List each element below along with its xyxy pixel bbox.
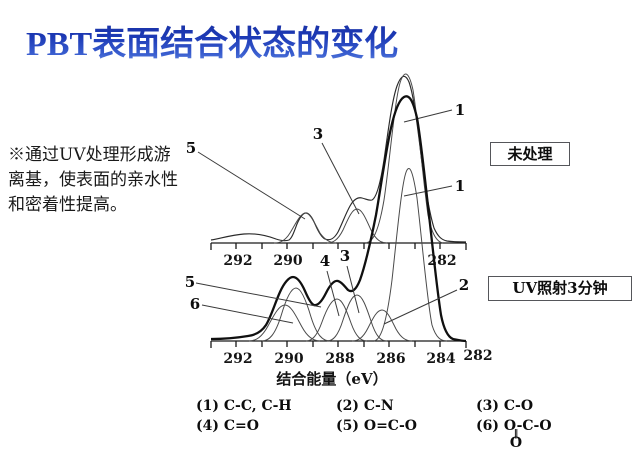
legend-id-6: (6) (476, 418, 499, 434)
upper-leader-5 (198, 152, 305, 219)
slide-canvas: PBT表面结合状态的变化 ※通过UV处理形成游离基，使表面的亲水性和密着性提高。… (0, 0, 640, 456)
upper-annotation-1a: 1 (455, 101, 465, 119)
lower-component-3 (327, 295, 387, 341)
legend-id-3: (3) (476, 398, 499, 414)
lower-annotation-2: 2 (459, 276, 469, 294)
lower-leader-2 (384, 290, 457, 324)
legend-6-carbonyl: ‖ O (509, 430, 523, 448)
lower-envelope-curve (211, 96, 466, 341)
legend-id-4: (4) (196, 418, 219, 434)
legend-formula-5: O=C-O (364, 418, 417, 434)
legend-item-1: (1) C-C, C-H (196, 396, 336, 416)
legend-row: (4) C=O (5) O=C-O (6) O-C-O ‖ O (196, 416, 616, 436)
lower-ticklabel-286: 286 (376, 351, 405, 367)
upper-annotation-5: 5 (186, 139, 196, 157)
legend-formula-2: C-N (364, 398, 394, 414)
lower-annotation-5: 5 (185, 273, 195, 291)
upper-annotation-3: 3 (313, 125, 323, 143)
formula-legend: (1) C-C, C-H (2) C-N (3) C-O (4) C=O (5)… (196, 396, 616, 436)
xps-spectra-figure: 5 3 1 1 292 290 282 (0, 0, 640, 456)
lower-annotation-6: 6 (190, 295, 200, 313)
lower-ticklabel-282: 282 (463, 348, 492, 364)
legend-formula-1: C-C, C-H (224, 398, 292, 414)
legend-row: (1) C-C, C-H (2) C-N (3) C-O (196, 396, 616, 416)
lower-ticklabel-292: 292 (223, 351, 252, 367)
legend-item-6: (6) O-C-O ‖ O (476, 416, 616, 436)
lower-axis-ticks (211, 341, 466, 348)
x-axis-title: 结合能量（eV） (276, 370, 387, 388)
legend-item-5: (5) O=C-O (336, 416, 476, 436)
upper-axis-ticks (211, 243, 466, 250)
legend-id-2: (2) (336, 398, 359, 414)
lower-ticklabel-284: 284 (426, 351, 455, 367)
upper-ticklabel-290: 290 (273, 253, 302, 269)
upper-leader-1b (404, 186, 452, 196)
lower-annotation-4: 4 (320, 252, 330, 270)
lower-ticklabel-288: 288 (325, 351, 354, 367)
legend-item-3: (3) C-O (476, 396, 616, 416)
legend-formula-3: C-O (504, 398, 533, 414)
upper-leader-1a (404, 110, 452, 122)
upper-ticklabel-282: 282 (427, 253, 456, 269)
upper-annotation-1b: 1 (455, 177, 465, 195)
upper-ticklabel-292: 292 (223, 253, 252, 269)
legend-item-4: (4) C=O (196, 416, 336, 436)
upper-component-5 (274, 213, 336, 243)
legend-id-1: (1) (196, 398, 219, 414)
upper-leader-3 (322, 143, 359, 214)
legend-formula-6-group: (6) O-C-O ‖ O (476, 416, 552, 436)
legend-item-2: (2) C-N (336, 396, 476, 416)
legend-6-oxygen: O (509, 439, 523, 448)
lower-annotation-3: 3 (340, 247, 350, 265)
lower-chart: 5 6 4 3 2 292 290 288 286 284 282 结合能量（e… (185, 96, 493, 388)
lower-ticklabel-290: 290 (274, 351, 303, 367)
legend-formula-4: C=O (224, 418, 259, 434)
legend-id-5: (5) (336, 418, 359, 434)
lower-leader-4 (327, 271, 339, 316)
upper-envelope-curve (211, 76, 466, 242)
